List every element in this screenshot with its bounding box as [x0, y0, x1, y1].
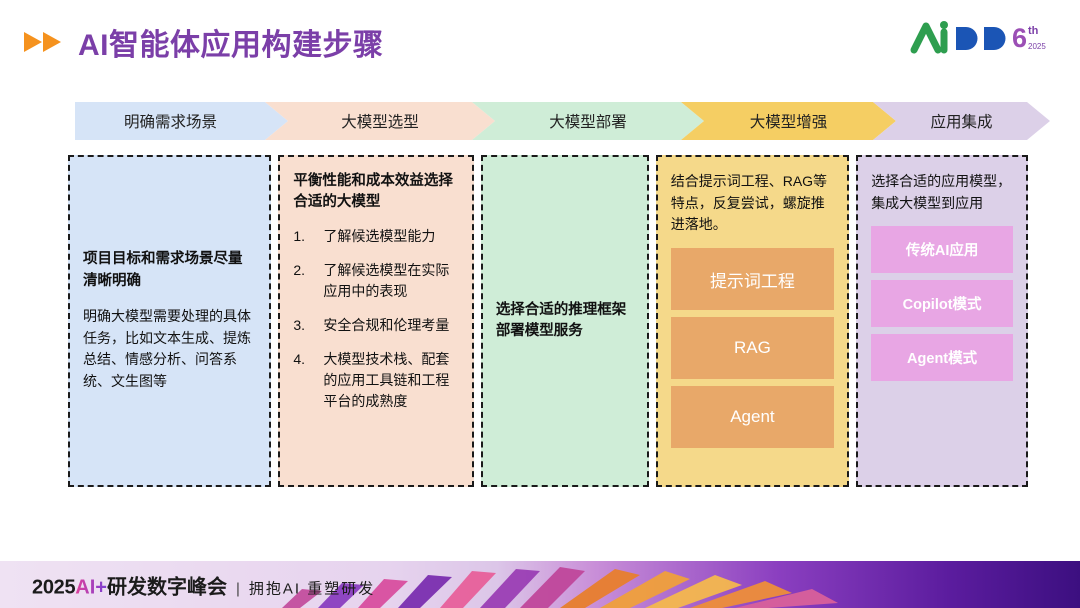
card-enhancement[interactable]: 结合提示词工程、RAG等特点，反复尝试，螺旋推进落地。 提示词工程 RAG Ag… [656, 155, 849, 487]
process-step-label: 大模型增强 [681, 110, 896, 132]
aidd-logo: 6 th 2025 [908, 16, 1058, 62]
footer-year: 2025 [32, 576, 75, 599]
slide: AI智能体应用构建步骤 6 th 2025 明确需求场景 大模型选型 大模型部署… [0, 0, 1080, 608]
card-requirements[interactable]: 项目目标和需求场景尽量清晰明确 明确大模型需要处理的具体任务，比如文本生成、提炼… [68, 155, 271, 487]
list-item: 2. 了解候选模型在实际应用中的表现 [293, 260, 458, 302]
chip-stack: 传统AI应用 Copilot模式 Agent模式 [871, 226, 1013, 381]
slide-footer: 2025 AI+ 研发数字峰会 | 拥抱AI 重塑研发 [0, 561, 1080, 608]
list-item-label: 了解候选模型能力 [323, 226, 458, 247]
chip-traditional-ai[interactable]: 传统AI应用 [871, 226, 1013, 273]
list-item-number: 2. [293, 260, 323, 302]
card-body: 选择合适的应用模型，集成大模型到应用 [871, 171, 1013, 214]
process-step-label: 大模型选型 [265, 110, 495, 132]
card-model-selection[interactable]: 平衡性能和成本效益选择合适的大模型 1. 了解候选模型能力 2. 了解候选模型在… [278, 155, 473, 487]
card-body: 结合提示词工程、RAG等特点，反复尝试，螺旋推进落地。 [671, 171, 834, 236]
process-banner: 明确需求场景 大模型选型 大模型部署 大模型增强 应用集成 [75, 102, 1050, 140]
process-step-label: 明确需求场景 [75, 110, 288, 132]
ordered-list: 1. 了解候选模型能力 2. 了解候选模型在实际应用中的表现 3. 安全合规和伦… [293, 226, 458, 425]
list-item-number: 4. [293, 349, 323, 412]
chip-copilot-mode[interactable]: Copilot模式 [871, 280, 1013, 327]
process-step-1[interactable]: 明确需求场景 [75, 102, 288, 140]
process-step-5[interactable]: 应用集成 [873, 102, 1050, 140]
footer-brand: 2025 AI+ 研发数字峰会 | 拥抱AI 重塑研发 [32, 570, 375, 599]
process-step-label: 大模型部署 [472, 110, 704, 132]
card-heading: 平衡性能和成本效益选择合适的大模型 [293, 171, 458, 214]
process-step-4[interactable]: 大模型增强 [681, 102, 896, 140]
list-item: 3. 安全合规和伦理考量 [293, 315, 458, 336]
chip-agent-mode[interactable]: Agent模式 [871, 334, 1013, 381]
svg-text:6: 6 [1012, 23, 1027, 53]
chip-stack: 提示词工程 RAG Agent [671, 248, 834, 448]
process-step-3[interactable]: 大模型部署 [472, 102, 704, 140]
card-integration[interactable]: 选择合适的应用模型，集成大模型到应用 传统AI应用 Copilot模式 Agen… [856, 155, 1028, 487]
chip-prompt-engineering[interactable]: 提示词工程 [671, 248, 834, 310]
footer-separator: | [236, 580, 240, 597]
footer-tagline: 拥抱AI 重塑研发 [249, 577, 375, 598]
svg-text:th: th [1028, 25, 1039, 37]
process-step-label: 应用集成 [873, 110, 1050, 132]
footer-ai-plus: AI+ [75, 576, 107, 599]
card-body: 明确大模型需要处理的具体任务，比如文本生成、提炼总结、情感分析、问答系统、文生图… [83, 306, 256, 393]
double-triangle-right-icon [24, 31, 64, 53]
list-item-label: 安全合规和伦理考量 [323, 315, 458, 336]
list-item: 4. 大模型技术栈、配套的应用工具链和工程平台的成熟度 [293, 349, 458, 412]
svg-text:2025: 2025 [1028, 42, 1046, 51]
process-step-2[interactable]: 大模型选型 [265, 102, 495, 140]
list-item-number: 3. [293, 315, 323, 336]
page-title: AI智能体应用构建步骤 [78, 20, 384, 64]
chip-rag[interactable]: RAG [671, 317, 834, 379]
card-deployment[interactable]: 选择合适的推理框架部署模型服务 [481, 155, 649, 487]
list-item-label: 了解候选模型在实际应用中的表现 [323, 260, 458, 302]
footer-summit-name: 研发数字峰会 [107, 570, 227, 599]
step-cards: 项目目标和需求场景尽量清晰明确 明确大模型需要处理的具体任务，比如文本生成、提炼… [68, 155, 1028, 487]
list-item: 1. 了解候选模型能力 [293, 226, 458, 247]
list-item-label: 大模型技术栈、配套的应用工具链和工程平台的成熟度 [323, 349, 458, 412]
card-heading: 项目目标和需求场景尽量清晰明确 [83, 249, 256, 292]
chip-agent[interactable]: Agent [671, 386, 834, 448]
list-item-number: 1. [293, 226, 323, 247]
card-heading: 选择合适的推理框架部署模型服务 [496, 300, 634, 343]
